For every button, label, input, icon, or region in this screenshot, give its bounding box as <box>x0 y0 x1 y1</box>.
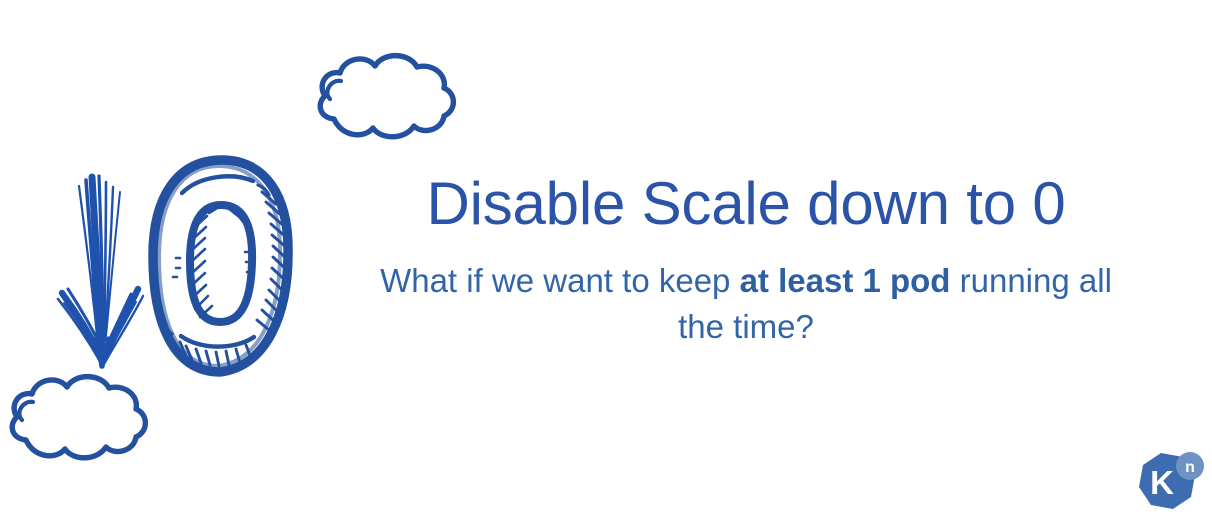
zero-glyph-icon <box>153 160 288 372</box>
slide-canvas: Disable Scale down to 0 What if we want … <box>0 0 1212 525</box>
slide-subtitle: What if we want to keep at least 1 pod r… <box>376 258 1116 352</box>
down-arrow-icon <box>58 176 143 366</box>
knative-logo: K n <box>1131 447 1209 521</box>
slide-text-block: Disable Scale down to 0 What if we want … <box>340 172 1152 351</box>
logo-letter-n: n <box>1185 459 1195 476</box>
subtitle-emphasis: at least 1 pod <box>740 262 951 299</box>
subtitle-lead: What if we want to keep <box>380 262 740 299</box>
cloud-bottom-icon <box>12 377 145 458</box>
logo-letter-k: K <box>1150 464 1174 501</box>
cloud-top-icon <box>320 56 453 137</box>
page-title: Disable Scale down to 0 <box>340 172 1152 236</box>
